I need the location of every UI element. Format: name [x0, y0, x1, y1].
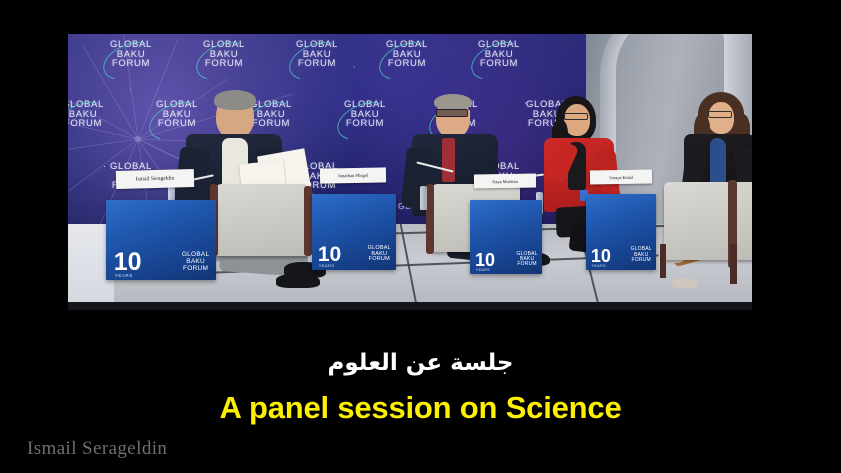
panel-session-photo: GLOBAL BAKU FORUM GLOBAL BAKU FORUM GLOB… [68, 34, 752, 310]
podium-panel: 10 YEARS GLOBAL BAKU FORUM [106, 200, 216, 280]
logo-swoosh-icon [191, 35, 256, 88]
logo-line-1: GLOBAL [110, 40, 152, 50]
logo-swoosh-icon [98, 35, 163, 88]
podium-years-number: 10 [318, 246, 341, 264]
logo-line-1: GLOBAL [478, 40, 520, 50]
backdrop-logo: GLOBAL BAKU FORUM [68, 100, 104, 129]
podium-brand-line-3: FORUM [631, 258, 652, 263]
chair-leg [660, 244, 666, 278]
author-signature: Ismail Serageldin [27, 438, 167, 460]
logo-line-2: BAKU [296, 50, 338, 60]
podium-brand-line-3: FORUM [516, 262, 537, 267]
logo-line-3: FORUM [478, 59, 520, 69]
chair [216, 184, 308, 256]
podium-panel: 10 YEARS GLOBAL BAKU FORUM [586, 194, 656, 270]
backdrop-logo: GLOBAL BAKU FORUM [296, 40, 338, 69]
logo-swoosh-icon [68, 95, 114, 148]
podium-brand: GLOBAL BAKU FORUM [368, 246, 391, 263]
nameplate: Naya Mnatsan [474, 173, 536, 188]
logo-line-1: GLOBAL [344, 100, 386, 110]
podium-years-word: YEARS [115, 273, 133, 278]
logo-line-2: BAKU [478, 50, 520, 60]
logo-swoosh-icon [284, 35, 349, 88]
logo-line-3: FORUM [386, 59, 428, 69]
chair-leg [730, 244, 737, 284]
logo-line-1: GLOBAL [296, 40, 338, 50]
water-bottle [420, 186, 427, 210]
podium-brand-line-3: FORUM [368, 257, 391, 263]
logo-line-2: BAKU [203, 50, 245, 60]
podium-brand: GLOBAL BAKU FORUM [516, 252, 537, 268]
logo-line-3: FORUM [203, 59, 245, 69]
podium-years-word: YEARS [592, 264, 606, 268]
logo-line-2: BAKU [68, 110, 104, 120]
nameplate: Jonathan Pliegel [320, 167, 386, 183]
logo-line-2: BAKU [344, 110, 386, 120]
chair-arm [304, 186, 312, 256]
podium-years-word: YEARS [319, 263, 335, 268]
logo-line-1: GLOBAL [386, 40, 428, 50]
podium-years-number: 10 [591, 249, 611, 264]
logo-line-2: BAKU [110, 50, 152, 60]
logo-line-1: GLOBAL [68, 100, 104, 110]
backdrop-logo: GLOBAL BAKU FORUM [344, 100, 386, 129]
backdrop-logo: GLOBAL BAKU FORUM [386, 40, 428, 69]
chair [664, 182, 752, 260]
podium-years-word: YEARS [476, 268, 490, 272]
podium-years-number: 10 [114, 252, 142, 273]
podium-panel: 10 YEARS GLOBAL BAKU FORUM [470, 200, 542, 274]
caption-english: A panel session on Science [0, 390, 841, 426]
presentation-slide: GLOBAL BAKU FORUM GLOBAL BAKU FORUM GLOB… [0, 0, 841, 473]
backdrop-logo: GLOBAL BAKU FORUM [203, 40, 245, 69]
nameplate: Ismail Serageldin [116, 169, 194, 189]
logo-line-2: BAKU [386, 50, 428, 60]
podium-brand: GLOBAL BAKU FORUM [182, 252, 210, 272]
logo-line-3: FORUM [68, 119, 104, 129]
podium-years-number: 10 [475, 253, 495, 268]
logo-line-3: FORUM [344, 119, 386, 129]
nameplate: Soraya Emad [590, 169, 652, 184]
podium-brand: GLOBAL BAKU FORUM [631, 247, 652, 263]
logo-swoosh-icon [374, 35, 439, 88]
logo-line-1: GLOBAL [203, 40, 245, 50]
caption-arabic: جلسة عن العلوم [0, 350, 841, 376]
podium-brand-line-3: FORUM [182, 266, 210, 273]
logo-swoosh-icon [466, 35, 531, 88]
podium-panel: 10 YEARS GLOBAL BAKU FORUM [312, 194, 396, 270]
chair-arm [426, 184, 434, 254]
logo-line-3: FORUM [296, 59, 338, 69]
backdrop-logo: GLOBAL BAKU FORUM [110, 40, 152, 69]
logo-line-3: FORUM [110, 59, 152, 69]
backdrop-logo: GLOBAL BAKU FORUM [478, 40, 520, 69]
